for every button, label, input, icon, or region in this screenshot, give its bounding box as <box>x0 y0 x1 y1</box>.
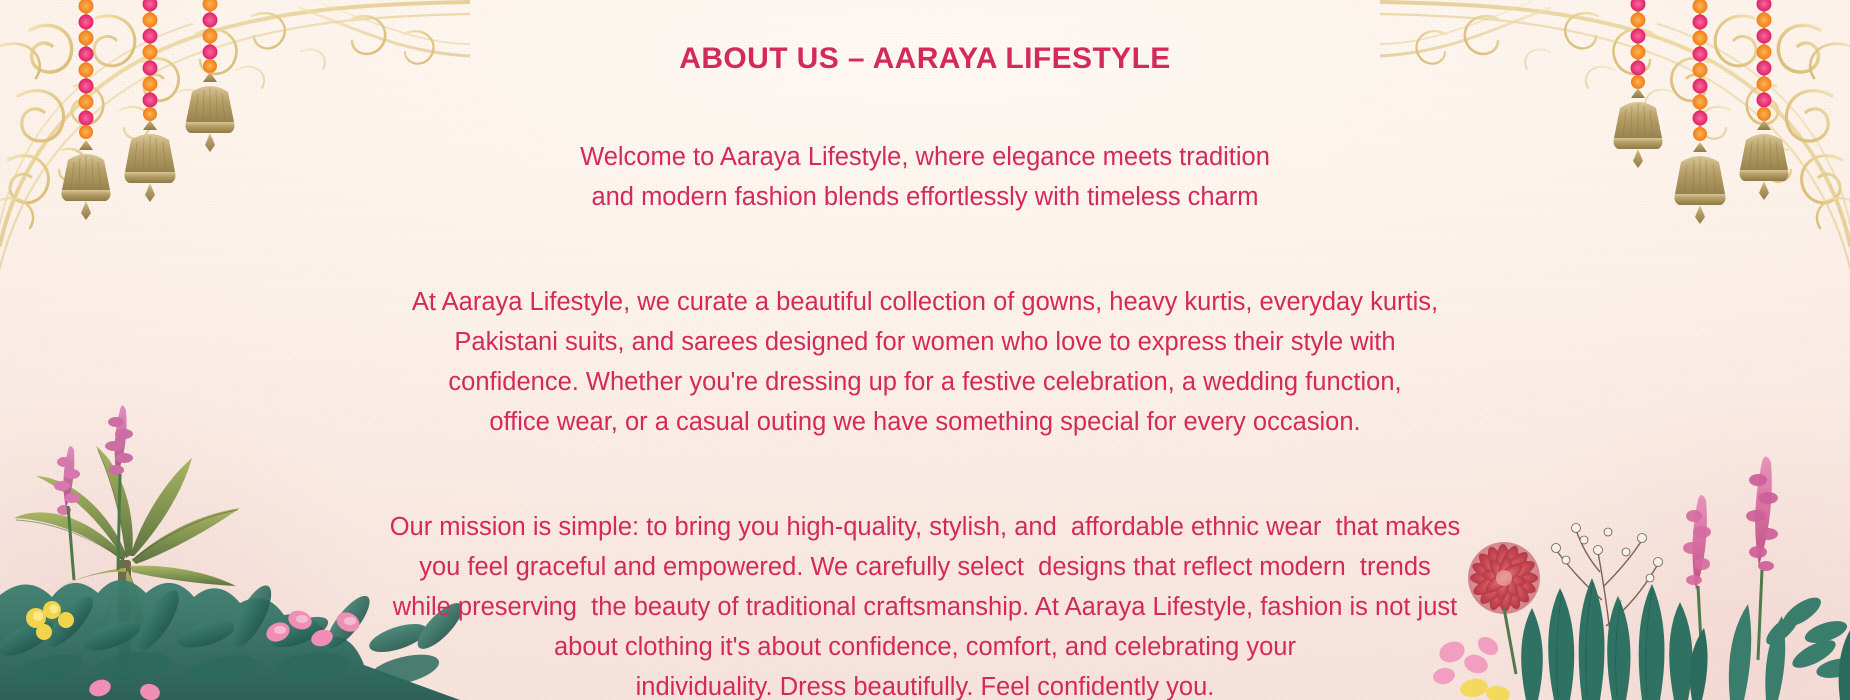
collection-paragraph: At Aaraya Lifestyle, we curate a beautif… <box>412 282 1438 442</box>
intro-paragraph: Welcome to Aaraya Lifestyle, where elega… <box>580 137 1270 217</box>
about-us-banner: ABOUT US – AARAYA LIFESTYLE Welcome to A… <box>0 0 1850 700</box>
mission-paragraph: Our mission is simple: to bring you high… <box>390 507 1461 700</box>
about-content: ABOUT US – AARAYA LIFESTYLE Welcome to A… <box>0 0 1850 700</box>
page-title: ABOUT US – AARAYA LIFESTYLE <box>679 42 1170 76</box>
